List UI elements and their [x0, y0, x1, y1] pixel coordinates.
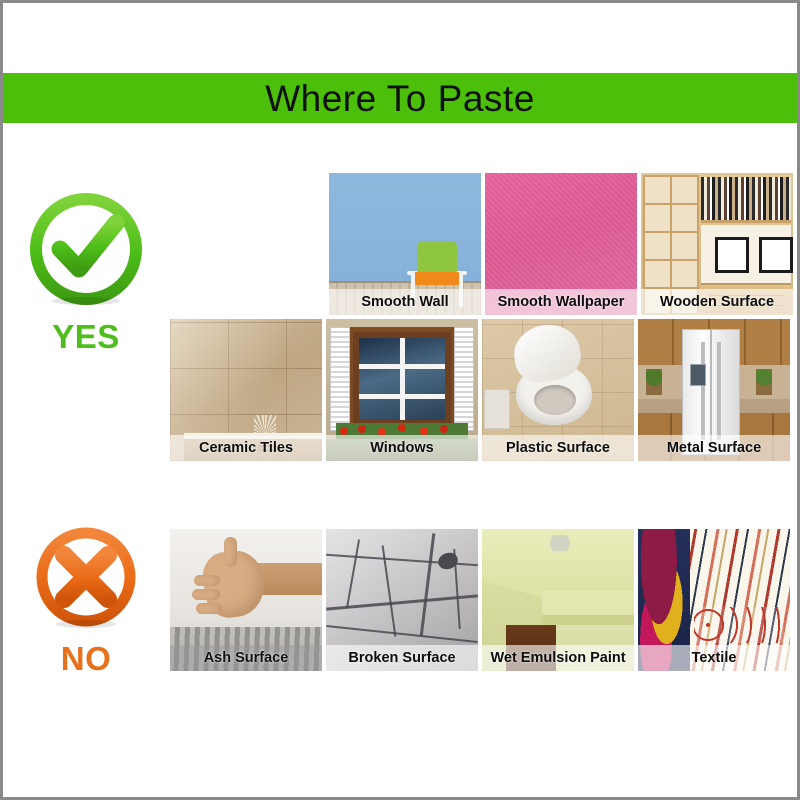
surface-row-yes-1: Smooth Wall Smooth Wallpaper Wooden Surf… [329, 173, 793, 315]
surface-caption: Wooden Surface [641, 289, 793, 315]
surface-caption: Ceramic Tiles [170, 435, 322, 461]
surface-caption: Ash Surface [170, 645, 322, 671]
surface-cell-wet-emulsion-paint[interactable]: Wet Emulsion Paint [482, 529, 634, 671]
surface-row-yes-2: Ceramic Tiles Windows [170, 319, 790, 461]
surface-cell-textile[interactable]: Textile [638, 529, 790, 671]
surface-cell-smooth-wallpaper[interactable]: Smooth Wallpaper [485, 173, 637, 315]
surface-caption: Textile [638, 645, 790, 671]
infographic-page: Where To Paste YES [0, 0, 800, 800]
page-title: Where To Paste [265, 80, 535, 117]
surface-cell-smooth-wall[interactable]: Smooth Wall [329, 173, 481, 315]
verdict-yes: YES [11, 189, 161, 353]
surface-caption: Wet Emulsion Paint [482, 645, 634, 671]
surface-cell-windows[interactable]: Windows [326, 319, 478, 461]
header-band: Where To Paste [3, 73, 797, 123]
surface-cell-ash-surface[interactable]: Ash Surface [170, 529, 322, 671]
surface-caption: Smooth Wallpaper [485, 289, 637, 315]
verdict-no: NO [11, 523, 161, 675]
surface-cell-plastic-surface[interactable]: Plastic Surface [482, 319, 634, 461]
surface-cell-ceramic-tiles[interactable]: Ceramic Tiles [170, 319, 322, 461]
surface-cell-metal-surface[interactable]: Metal Surface [638, 319, 790, 461]
check-circle-icon [24, 189, 148, 318]
surface-caption: Windows [326, 435, 478, 461]
surface-cell-wooden-surface[interactable]: Wooden Surface [641, 173, 793, 315]
surface-cell-broken-surface[interactable]: Broken Surface [326, 529, 478, 671]
verdict-no-label: NO [61, 642, 112, 675]
surface-caption: Smooth Wall [329, 289, 481, 315]
cross-circle-icon [30, 523, 142, 640]
surface-caption: Plastic Surface [482, 435, 634, 461]
surface-caption: Metal Surface [638, 435, 790, 461]
surface-row-no-1: Ash Surface Broken Surface [170, 529, 790, 671]
surface-caption: Broken Surface [326, 645, 478, 671]
verdict-yes-label: YES [52, 320, 120, 353]
